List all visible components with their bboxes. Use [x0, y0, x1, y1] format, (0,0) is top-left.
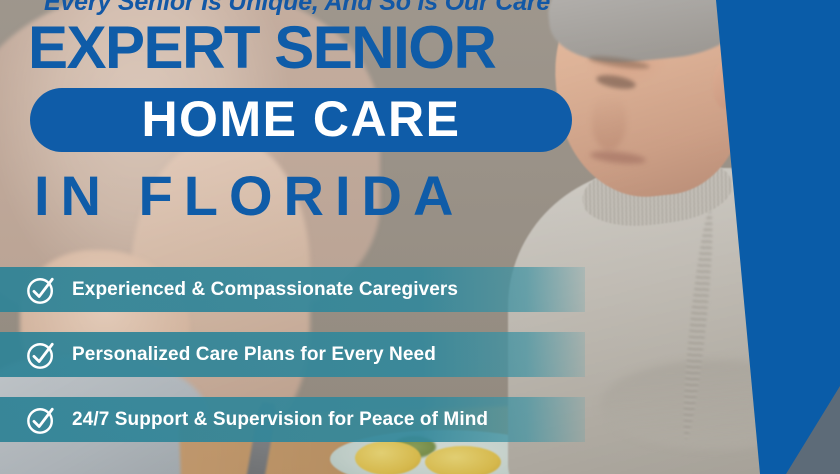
home-care-pill: HOME CARE	[30, 88, 572, 152]
headline-pill-text: HOME CARE	[141, 94, 460, 144]
headline-line-3: IN FLORIDA	[34, 168, 464, 224]
circle-check-icon	[26, 405, 56, 435]
feature-bar: Personalized Care Plans for Every Need	[0, 332, 585, 377]
headline-line-1: EXPERT SENIOR	[28, 18, 495, 78]
feature-label: Experienced & Compassionate Caregivers	[72, 279, 458, 301]
circle-check-icon	[26, 275, 56, 305]
circle-check-icon	[26, 340, 56, 370]
feature-label: 24/7 Support & Supervision for Peace of …	[72, 409, 488, 431]
feature-label: Personalized Care Plans for Every Need	[72, 344, 436, 366]
feature-bar: Experienced & Compassionate Caregivers	[0, 267, 585, 312]
feature-bar: 24/7 Support & Supervision for Peace of …	[0, 397, 585, 442]
senior-home-care-banner: Every Senior Is Unique, And So Is Our Ca…	[0, 0, 840, 474]
